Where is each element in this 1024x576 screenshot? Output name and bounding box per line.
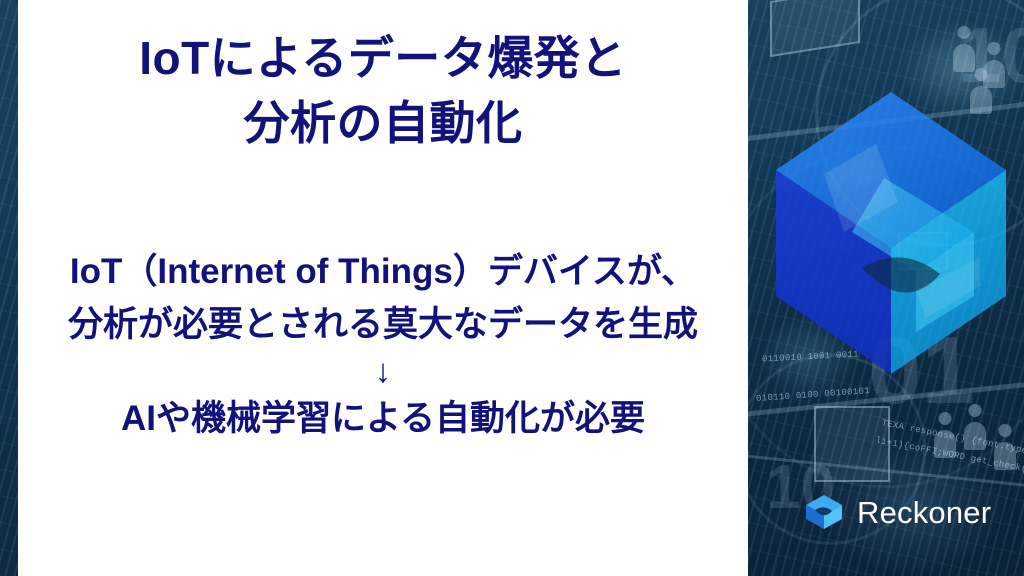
body-line-2: 分析が必要とされる莫大なデータを生成 [18,298,748,351]
body-line-1: IoT（Internet of Things）デバイスが、 [18,245,748,298]
content-panel: IoTによるデータ爆発と 分析の自動化 IoT（Internet of Thin… [18,0,748,576]
slide-root: TEXA response() {font.type="item" li+1){… [0,0,1024,576]
reckoner-brand-lockup: Reckoner [804,492,991,532]
reckoner-cube-logomark [804,492,844,532]
body-conclusion-line: AIや機械学習による自動化が必要 [18,392,748,445]
slide-title-line-2: 分析の自動化 [18,91,748,156]
reckoner-cube-watermark [766,82,1016,382]
down-arrow-icon: ↓ [18,351,748,391]
slide-body: IoT（Internet of Things）デバイスが、 分析が必要とされる莫… [18,245,748,445]
reckoner-wordmark: Reckoner [857,497,991,528]
left-photo-strip [0,0,18,576]
tech-network-background [0,0,18,576]
slide-title: IoTによるデータ爆発と 分析の自動化 [18,26,748,157]
slide-title-line-1: IoTによるデータ爆発と [18,26,748,91]
right-photo-band: TEXA response() {font.type="item" li+1){… [748,0,1024,576]
